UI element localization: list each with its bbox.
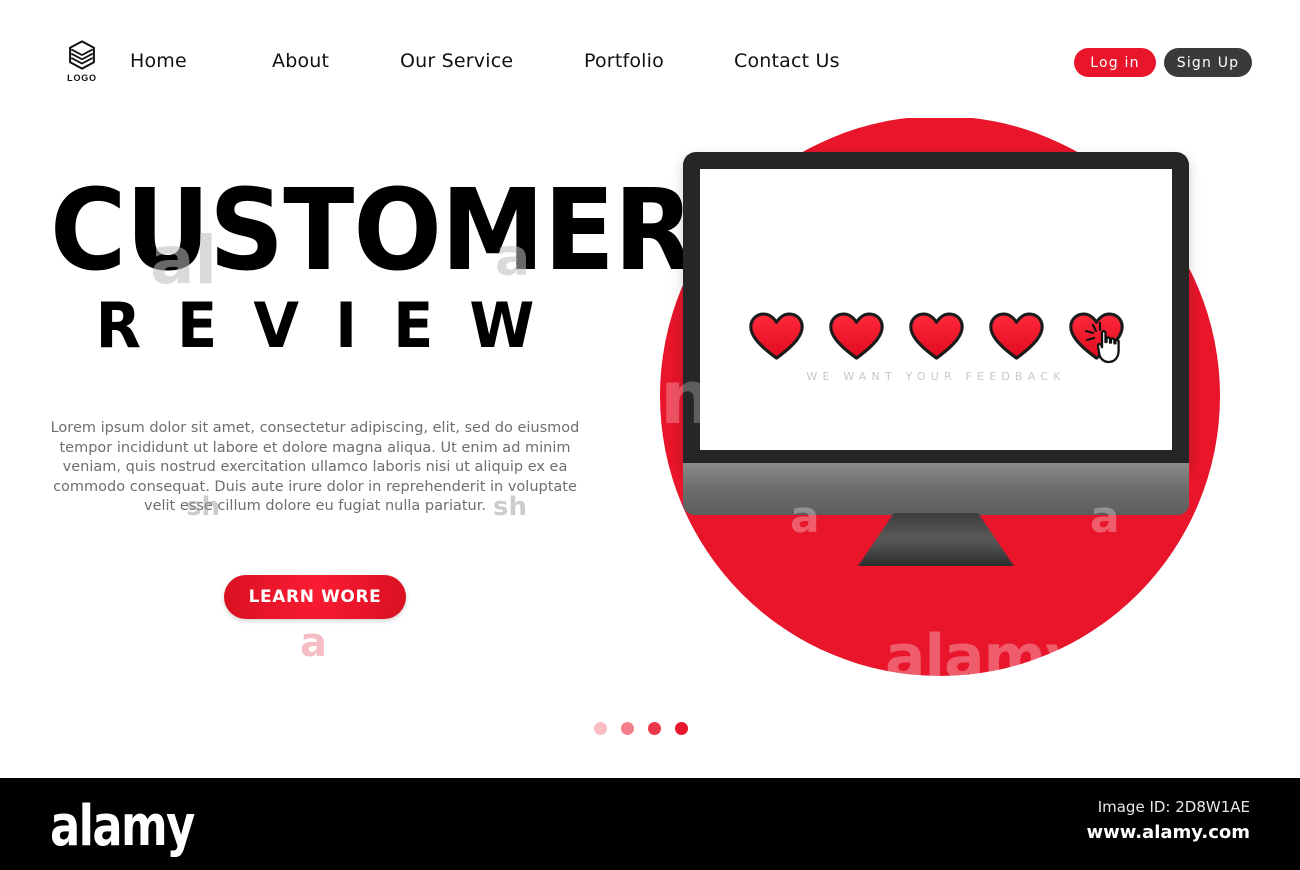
carousel-dot-4[interactable] (675, 722, 688, 735)
page-title: CUSTOMER (50, 180, 580, 283)
footer-bar: alamy Image ID: 2D8W1AE www.alamy.com (0, 778, 1300, 870)
footer-image-id: Image ID: 2D8W1AE (1086, 798, 1250, 816)
carousel-dot-3[interactable] (648, 722, 661, 735)
landing-page: LOGO Home About Our Service Portfolio Co… (0, 0, 1300, 870)
heart-icon (909, 312, 964, 362)
heart-icon (989, 312, 1044, 362)
monitor-screen (700, 169, 1172, 450)
auth-buttons: Log in Sign Up (1074, 48, 1252, 77)
heart-rating (700, 312, 1172, 362)
nav-item-about[interactable]: About (272, 50, 400, 72)
nav-item-contact-us[interactable]: Contact Us (734, 50, 884, 72)
signup-button[interactable]: Sign Up (1164, 48, 1252, 77)
desktop-monitor: WE WANT YOUR FEEDBACK (683, 152, 1193, 577)
site-header: LOGO Home About Our Service Portfolio Co… (0, 0, 1300, 118)
heart-slot-1[interactable] (749, 312, 804, 362)
page-subtitle: REVIEW (44, 295, 586, 357)
hand-cursor-icon (1083, 319, 1131, 367)
learn-more-button[interactable]: LEARN WORE (224, 575, 406, 619)
carousel-dot-2[interactable] (621, 722, 634, 735)
hero-illustration: WE WANT YOUR FEEDBACK (655, 108, 1225, 708)
feedback-label: WE WANT YOUR FEEDBACK (700, 370, 1172, 383)
heart-slot-4[interactable] (989, 312, 1044, 362)
hero-paragraph: Lorem ipsum dolor sit amet, consectetur … (30, 419, 600, 517)
monitor-stand (858, 513, 1014, 566)
hero-text-column: CUSTOMER REVIEW Lorem ipsum dolor sit am… (30, 180, 600, 619)
monitor-bezel: WE WANT YOUR FEEDBACK (683, 152, 1189, 467)
nav-item-home[interactable]: Home (130, 50, 272, 72)
footer-meta: Image ID: 2D8W1AE www.alamy.com (1086, 798, 1250, 843)
carousel-dot-1[interactable] (594, 722, 607, 735)
monitor-chin (683, 463, 1189, 515)
stacked-cube-icon (65, 38, 99, 72)
heart-slot-5[interactable] (1069, 312, 1124, 362)
nav-item-our-service[interactable]: Our Service (400, 50, 584, 72)
heart-icon (749, 312, 804, 362)
footer-brand: alamy (50, 794, 194, 859)
heart-icon (829, 312, 884, 362)
logo[interactable]: LOGO (58, 38, 106, 83)
logo-label: LOGO (67, 73, 97, 83)
heart-slot-3[interactable] (909, 312, 964, 362)
watermark-ghost-a3: a (300, 620, 327, 666)
nav-item-portfolio[interactable]: Portfolio (584, 50, 734, 72)
main-navigation: Home About Our Service Portfolio Contact… (130, 50, 884, 72)
footer-url: www.alamy.com (1086, 822, 1250, 843)
heart-slot-2[interactable] (829, 312, 884, 362)
login-button[interactable]: Log in (1074, 48, 1156, 77)
carousel-dots (594, 722, 688, 735)
cta-wrapper: LEARN WORE (30, 575, 600, 619)
